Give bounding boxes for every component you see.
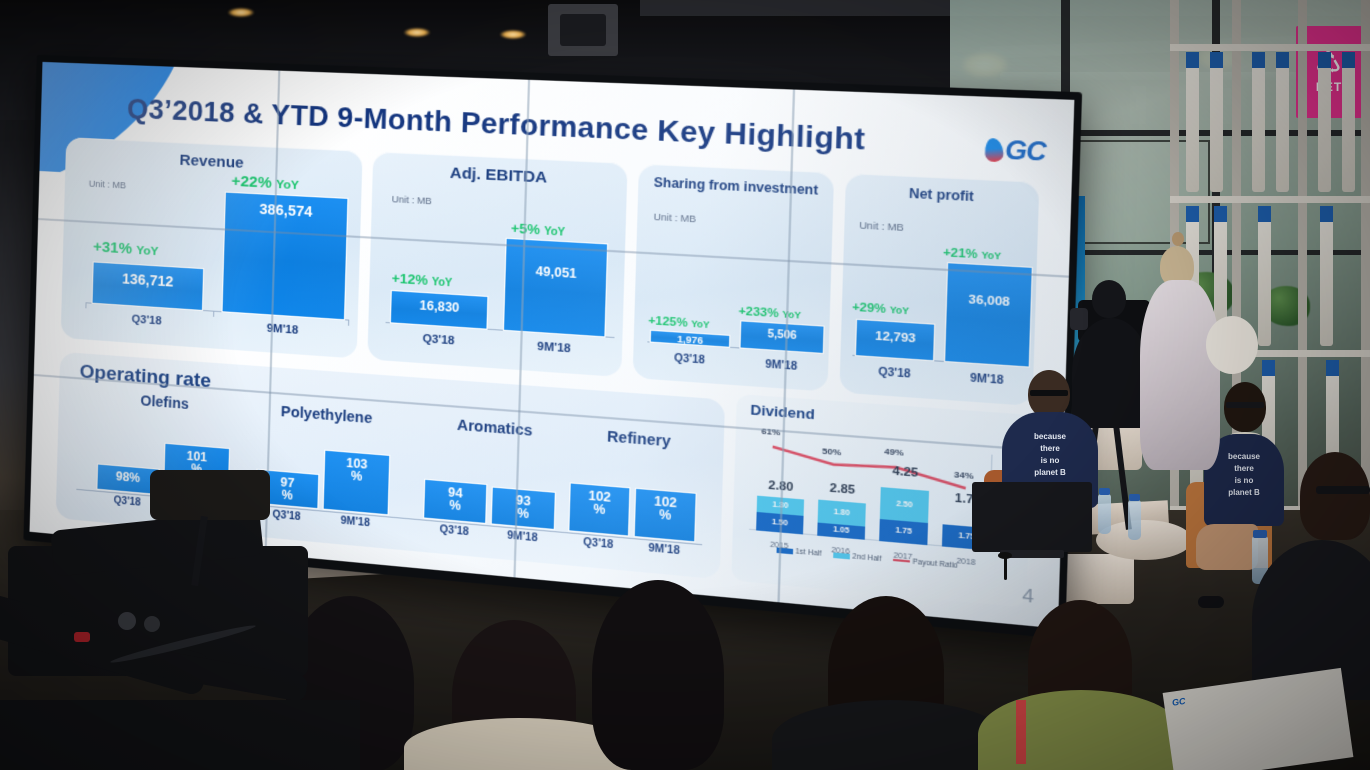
axis-tick (213, 312, 214, 317)
kpi-card-adj-ebitda: Adj. EBITDA Unit : MB +12% YoY 16,830 Q3 (368, 151, 628, 377)
bar-category-label: 9M'18 (221, 319, 345, 340)
operating-rate-group-aromatics: Aromatics 94 % Q3'18 93 % 9M'18 (415, 413, 576, 442)
kpi-card-revenue: Revenue Unit : MB +31% YoY 136 (61, 137, 363, 358)
group-label: Polyethylene (239, 400, 415, 430)
bar-category-label: Q3'18 (91, 311, 203, 331)
shirt-slogan-line-2: there (1002, 444, 1098, 453)
display-gown (1140, 280, 1220, 470)
bar-value: 1,976 (651, 332, 730, 348)
payout-ratio-label: 50% (822, 446, 841, 457)
bar: 49,051 (503, 238, 608, 338)
yoy-value: +31% (93, 238, 132, 257)
bar-value: 36,008 (947, 292, 1031, 310)
bar-category-label: Q3'18 (424, 523, 485, 541)
group-label: Olefins (89, 388, 242, 416)
bottle-cap (1099, 488, 1110, 495)
bar-value: 136,712 (93, 268, 203, 291)
water-bottle (1128, 500, 1141, 540)
kpi-title: Net profit (846, 173, 1040, 208)
bar: 94 % Q3'18 (423, 479, 487, 524)
camera-knob (144, 616, 160, 632)
bar-unit: % (517, 506, 529, 522)
bar-category-label: 9M'18 (503, 338, 606, 358)
kpi-card-sharing-from-investment: Sharing from investment Unit : MB +125% … (633, 163, 835, 391)
bar-group: +125% YoY 1,976 Q3'18 (650, 330, 731, 348)
payout-ratio-label: 34% (954, 470, 974, 482)
bar-group: +21% YoY 36,008 9M'18 (944, 262, 1033, 368)
bottle-cap (1129, 494, 1140, 501)
bar-value: 16,830 (392, 296, 488, 317)
bar: 5,506 (740, 320, 825, 354)
shelf-rail (1170, 196, 1370, 203)
female-speaker-legs (1196, 524, 1258, 570)
bar: 36,008 (944, 262, 1033, 368)
bar-value: 5,506 (741, 327, 824, 344)
mannequin-knob (1172, 232, 1184, 246)
female-speaker-shoe (1198, 596, 1224, 608)
bar: 136,712 (92, 261, 205, 311)
operating-rate-group-polyethylene: Polyethylene 97 % Q3'18 103 % 9M'18 (239, 400, 415, 430)
audience-shoulders (978, 690, 1184, 770)
bar: 102 % Q3'18 (568, 482, 630, 536)
bar-category-label: 9M'18 (944, 371, 1030, 389)
laptop-monitor (972, 482, 1092, 552)
gc-wordmark: GC (1005, 135, 1046, 167)
yoy-suffix: YoY (432, 277, 453, 290)
shirt-slogan-line-4: planet B (1002, 468, 1098, 477)
yoy-label: +12% YoY (391, 270, 452, 289)
slide-page-number: 4 (1022, 585, 1034, 608)
kpi-title: Sharing from investment (638, 163, 834, 198)
kpi-unit: Unit : MB (859, 220, 904, 233)
microphone-head (998, 552, 1012, 559)
group-label: Refinery (562, 424, 717, 453)
yoy-label: +21% YoY (943, 246, 1002, 263)
ceiling-light (500, 30, 526, 39)
slide-title-lead: Q3’2018 (127, 93, 236, 128)
press-conference-scene: ♺ PET OD TE (0, 0, 1370, 770)
kpi-card-net-profit: Net profit Unit : MB +29% YoY 12,793 Q3' (840, 173, 1040, 406)
bottle-cap (1253, 530, 1267, 538)
bar-unit: % (593, 501, 605, 517)
ceiling-vent-inner (560, 14, 606, 46)
audience-lanyard (1016, 700, 1026, 764)
shirt-slogan-line-3: is no (1204, 476, 1284, 485)
yoy-label: +233% YoY (738, 305, 801, 322)
axis-tick (348, 321, 349, 326)
yoy-suffix: YoY (544, 226, 565, 239)
bar-group: +12% YoY 16,830 Q3'18 (390, 290, 489, 330)
bar-category-label: 9M'18 (491, 529, 553, 547)
umbrella-product (1342, 52, 1355, 192)
balloon-prop (1206, 316, 1258, 374)
payout-ratio-label: 49% (884, 446, 904, 457)
camera-record-indicator (74, 632, 90, 642)
bar-group: +31% YoY 136,712 Q3'18 (92, 261, 205, 311)
dividend-1st-half-segment: 1.75 (879, 519, 928, 545)
yoy-label: +22% YoY (231, 172, 299, 193)
bar: 16,830 (390, 290, 489, 330)
yoy-suffix: YoY (889, 304, 909, 316)
shelf-rail (1170, 44, 1370, 51)
bar-value: 386,574 (225, 199, 347, 222)
umbrella-product (1320, 206, 1333, 346)
dividend-2nd-half-segment: 2.50 (880, 487, 929, 523)
shirt-slogan-line-4: planet B (1204, 488, 1284, 497)
yoy-label: +31% YoY (93, 238, 159, 259)
yoy-value: +21% (943, 246, 978, 261)
bar-category-label: Q3'18 (569, 536, 628, 554)
kpi-unit: Unit : MB (392, 194, 432, 207)
bar-group: +233% YoY 5,506 9M'18 (740, 320, 825, 354)
bar-unit: % (659, 507, 672, 523)
umbrella-product (1258, 206, 1271, 346)
umbrella-product (1252, 52, 1265, 192)
yoy-suffix: YoY (691, 318, 710, 330)
gc-logo: GC (984, 135, 1046, 168)
audience-head (592, 580, 724, 770)
bar: 93 % 9M'18 (491, 486, 556, 530)
camera-lens-hood (1070, 308, 1088, 330)
bar: 12,793 (855, 319, 936, 362)
microphone-stand (1004, 556, 1007, 580)
yoy-label: +5% YoY (511, 220, 566, 239)
bar: 1,976 (650, 330, 731, 348)
operating-rate-group-olefins: Olefins 98% Q3'18 101 % 9M'18 (89, 388, 242, 416)
umbrella-product (1210, 52, 1223, 192)
ceiling-light (228, 8, 254, 17)
shirt-slogan-line-1: because (1002, 432, 1098, 441)
yoy-label: +29% YoY (852, 301, 909, 318)
yoy-suffix: YoY (136, 244, 159, 258)
secondary-camera (150, 470, 270, 520)
umbrella-product (1186, 52, 1199, 192)
yoy-value: +12% (391, 270, 428, 288)
shirt-slogan-line-2: there (1204, 464, 1284, 473)
camera-knob (118, 612, 136, 630)
bar-category-label: Q3'18 (649, 351, 730, 368)
yoy-label: +125% YoY (648, 314, 710, 331)
bar-category-label: 9M'18 (739, 357, 824, 375)
bar: 386,574 (221, 192, 348, 321)
cameraman-torso (1072, 318, 1150, 428)
ceiling-light (404, 28, 430, 37)
bar-unit: % (129, 470, 140, 485)
kpi-unit: Unit : MB (653, 211, 696, 224)
group-bars: 97 % Q3'18 103 % 9M'18 (256, 432, 391, 516)
bar: 103 % 9M'18 (323, 450, 391, 516)
group-label: Aromatics (415, 413, 576, 442)
group-bars: 94 % Q3'18 93 % 9M'18 (423, 445, 557, 530)
bar-group: +29% YoY 12,793 Q3'18 (855, 319, 936, 362)
bar-unit: % (449, 498, 461, 514)
bar-group: +5% YoY 49,051 9M'18 (503, 238, 608, 338)
gc-flame-icon (983, 138, 1003, 162)
umbrella-product (1318, 52, 1331, 192)
umbrella-product (1276, 52, 1289, 192)
bar-unit: % (351, 468, 363, 483)
bar: 102 % 9M'18 (634, 488, 697, 543)
cameraman-head (1092, 280, 1126, 318)
group-bars: 102 % Q3'18 102 % 9M'18 (568, 457, 697, 543)
axis-tick (85, 303, 86, 308)
attendee-head (1300, 452, 1370, 540)
yoy-value: +125% (648, 314, 688, 329)
dividend-column: 1.80 1.05 (817, 500, 866, 540)
dividend-column: 2.50 1.75 (879, 487, 929, 545)
shirt-slogan-line-3: is no (1002, 456, 1098, 465)
bar-value: 98 (116, 469, 130, 484)
audience-shoulders (772, 700, 1008, 770)
yoy-suffix: YoY (276, 178, 299, 193)
yoy-suffix: YoY (981, 249, 1001, 261)
operating-rate-group-refinery: Refinery 102 % Q3'18 102 % 9M'18 (571, 425, 717, 453)
yoy-value: +22% (231, 172, 272, 191)
kpi-title: Adj. EBITDA (373, 151, 628, 191)
water-bottle (1098, 494, 1111, 534)
bar-group: +22% YoY 386,574 9M'18 (221, 192, 348, 321)
male-speaker-glasses (1030, 390, 1068, 396)
yoy-value: +233% (738, 305, 779, 321)
bar-category-label: Q3'18 (855, 365, 935, 383)
female-speaker-glasses (1226, 402, 1264, 408)
bar-category-label: 9M'18 (634, 541, 694, 559)
kpi-title: Revenue (65, 137, 363, 178)
kpi-unit: Unit : MB (89, 179, 126, 191)
attendee-glasses (1316, 486, 1370, 494)
slide-title-rest: & YTD 9-Month Performance Key Highlight (243, 98, 866, 156)
bar-category-label: Q3'18 (390, 331, 488, 350)
bar-value: 12,793 (857, 329, 934, 347)
yoy-value: +29% (852, 301, 886, 316)
handout-gc-logo: GC (1171, 696, 1186, 708)
broadcast-camera-base (0, 700, 360, 770)
bar-unit: % (281, 487, 293, 502)
